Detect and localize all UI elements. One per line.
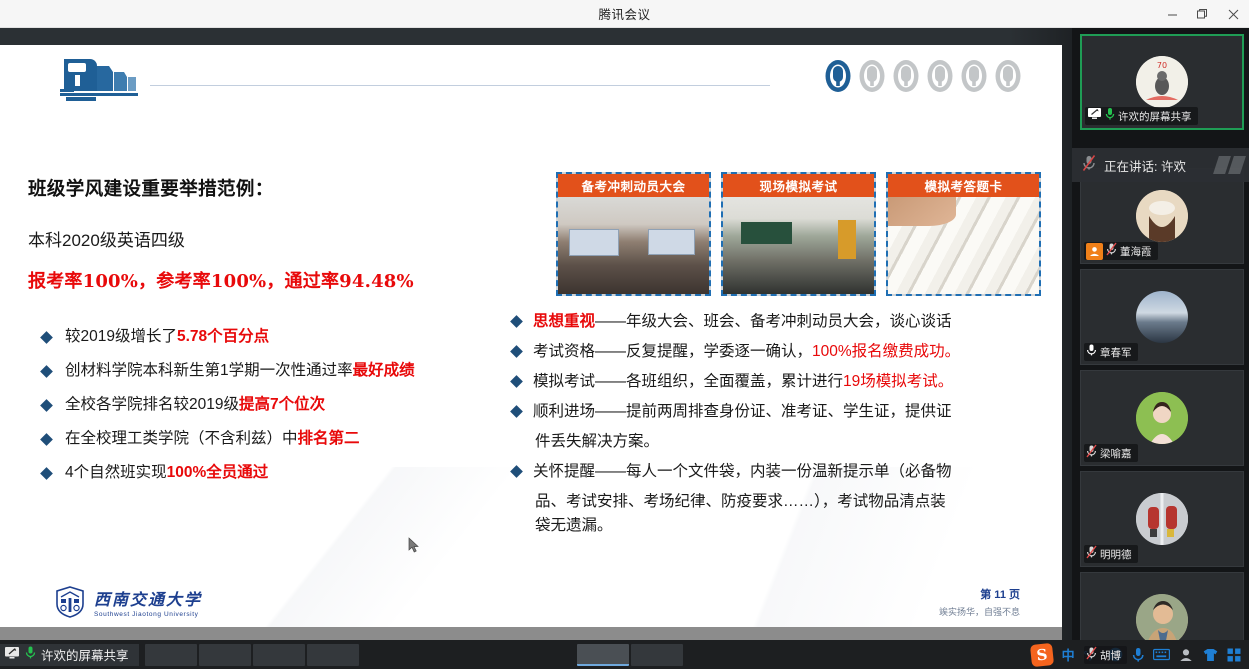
photo-gallery: 备考冲刺动员大会 现场模拟考试 模拟考答题卡 bbox=[556, 172, 1041, 296]
voice-input-icon[interactable] bbox=[1132, 647, 1144, 663]
skin-icon[interactable] bbox=[1203, 648, 1218, 662]
photo-card[interactable]: 备考冲刺动员大会 bbox=[556, 172, 711, 296]
university-name-en: Southwest Jiaotong University bbox=[94, 611, 202, 618]
mic-on-icon bbox=[25, 645, 36, 665]
participant-tile-host[interactable]: 董海霞 bbox=[1080, 168, 1244, 264]
mic-muted-icon bbox=[1106, 242, 1117, 261]
participant-name: 许欢的屏幕共享 bbox=[1118, 109, 1192, 124]
participant-sidebar[interactable]: 70 bbox=[1072, 28, 1249, 640]
taskbar-window-item[interactable] bbox=[307, 644, 359, 666]
participant-tile[interactable]: 梁喻嘉 bbox=[1080, 370, 1244, 466]
window-controls bbox=[1157, 0, 1249, 28]
bullet-text: 关怀提醒——每人一个文件袋，内装一份温新提示单（必备物 bbox=[533, 460, 952, 484]
bullet-text: 创材料学院本科新生第1学期一次性通过率最好成绩 bbox=[65, 361, 415, 382]
list-item: 考试资格——反复提醒，学委逐一确认，100%报名缴费成功。 bbox=[500, 340, 1040, 364]
mic-on-icon bbox=[1105, 107, 1115, 126]
bullet-text: 考试资格——反复提醒，学委逐一确认，100%报名缴费成功。 bbox=[533, 340, 960, 364]
bullet-text: 顺利进场——提前两周排查身份证、准考证、学生证，提供证 bbox=[533, 400, 952, 424]
taskbar-window-buttons bbox=[139, 644, 1031, 666]
list-item: 顺利进场——提前两周排查身份证、准考证、学生证，提供证 bbox=[500, 400, 1040, 424]
soft-keyboard-icon[interactable] bbox=[1153, 648, 1170, 661]
mic-muted-icon bbox=[1086, 545, 1097, 564]
bullet-text: 较2019级增长了5.78个百分点 bbox=[65, 327, 269, 348]
train-dot-icon bbox=[960, 59, 988, 93]
slide-left-column: 班级学风建设重要举措范例： 本科2020级英语四级 报考率100%，参考率100… bbox=[28, 175, 538, 497]
diamond-bullet-icon bbox=[510, 405, 523, 418]
bullet-text: 4个自然班实现100%全员通过 bbox=[65, 463, 268, 484]
university-motto: 竢实扬华，自强不息 bbox=[939, 605, 1020, 618]
ime-toolbar[interactable]: S 中 °， bbox=[1031, 644, 1249, 666]
mic-on-icon bbox=[1086, 343, 1097, 362]
avatar bbox=[1136, 291, 1188, 343]
bullet-text: 在全校理工类学院（不含利兹）中排名第二 bbox=[65, 429, 360, 450]
tencent-meeting-window: 腾讯会议 bbox=[0, 0, 1249, 669]
slide-header-decoration bbox=[0, 45, 1062, 107]
photo-caption: 模拟考答题卡 bbox=[888, 174, 1039, 197]
diamond-bullet-icon bbox=[510, 465, 523, 478]
mic-muted-icon bbox=[1086, 444, 1097, 463]
shared-screen-slide[interactable]: 班级学风建设重要举措范例： 本科2020级英语四级 报考率100%，参考率100… bbox=[0, 45, 1062, 627]
window-titlebar: 腾讯会议 bbox=[0, 0, 1249, 28]
participant-name: 明明德 bbox=[1100, 547, 1132, 562]
train-dot-icon bbox=[926, 59, 954, 93]
user-icon[interactable] bbox=[1179, 648, 1194, 662]
photo-caption: 现场模拟考试 bbox=[723, 174, 874, 197]
avatar bbox=[1136, 392, 1188, 444]
bullet-text: 模拟考试——各班组织，全面覆盖，累计进行19场模拟考试。 bbox=[533, 370, 953, 394]
speaking-banner: 正在讲话: 许欢 bbox=[1072, 148, 1249, 182]
participant-nametag: 章春军 bbox=[1084, 343, 1138, 361]
diamond-bullet-icon bbox=[40, 331, 53, 344]
toolbox-icon[interactable] bbox=[1227, 648, 1241, 662]
participant-nametag: 梁喻嘉 bbox=[1084, 444, 1138, 462]
maximize-button[interactable] bbox=[1187, 0, 1217, 28]
taskbar-window-item[interactable] bbox=[253, 644, 305, 666]
list-item: 创材料学院本科新生第1学期一次性通过率最好成绩 bbox=[28, 361, 538, 382]
list-item: 在全校理工类学院（不含利兹）中排名第二 bbox=[28, 429, 538, 450]
participant-name: 梁喻嘉 bbox=[1100, 446, 1132, 461]
participant-tile[interactable]: 明明德 bbox=[1080, 471, 1244, 567]
sogou-logo-icon[interactable]: S bbox=[1029, 642, 1053, 666]
windows-taskbar: 许欢的屏幕共享 S 中 °， bbox=[0, 640, 1249, 669]
slide-subtitle: 本科2020级英语四级 bbox=[28, 226, 538, 251]
host-badge-icon bbox=[1086, 243, 1103, 260]
list-item: 4个自然班实现100%全员通过 bbox=[28, 463, 538, 484]
avatar bbox=[1136, 594, 1188, 646]
slide-bottom-band bbox=[0, 627, 1062, 640]
university-name-block: 西南交通大学 Southwest Jiaotong University bbox=[94, 586, 202, 618]
page-title: 腾讯会议 bbox=[598, 4, 650, 23]
speaking-label: 正在讲话: 许欢 bbox=[1104, 156, 1186, 175]
svg-text:70: 70 bbox=[1157, 61, 1167, 70]
participant-nametag: 明明德 bbox=[1084, 545, 1138, 563]
page-number: 第 11 页 bbox=[939, 586, 1020, 602]
participant-nametag: 许欢的屏幕共享 bbox=[1085, 107, 1198, 125]
close-button[interactable] bbox=[1217, 0, 1249, 28]
list-item: 全校各学院排名较2019级提高7个位次 bbox=[28, 395, 538, 416]
participant-name: 董海霞 bbox=[1120, 244, 1152, 259]
banner-decoration bbox=[1216, 156, 1243, 174]
header-rule bbox=[150, 85, 770, 86]
list-item: 关怀提醒——每人一个文件袋，内装一份温新提示单（必备物 bbox=[500, 460, 1040, 484]
taskbar-share-label: 许欢的屏幕共享 bbox=[41, 645, 129, 664]
avatar: 70 bbox=[1136, 56, 1188, 108]
list-item: 较2019级增长了5.78个百分点 bbox=[28, 327, 538, 348]
diamond-bullet-icon bbox=[40, 467, 53, 480]
university-logo: 西南交通大学 Southwest Jiaotong University bbox=[55, 586, 202, 618]
train-dot-icon bbox=[892, 59, 920, 93]
photo-caption: 备考冲刺动员大会 bbox=[558, 174, 709, 197]
train-dot-icon bbox=[994, 59, 1022, 93]
bullet-continuation-text: 袋无遗漏。 bbox=[535, 514, 1040, 538]
photo-card[interactable]: 模拟考答题卡 bbox=[886, 172, 1041, 296]
photo-card[interactable]: 现场模拟考试 bbox=[721, 172, 876, 296]
taskbar-share-indicator[interactable]: 许欢的屏幕共享 bbox=[0, 644, 139, 666]
bullet-text: 思想重视——年级大会、班会、备考冲刺动员大会，谈心谈话 bbox=[533, 310, 952, 334]
list-item: 思想重视——年级大会、班会、备考冲刺动员大会，谈心谈话 bbox=[500, 310, 1040, 334]
slide-progress-dots bbox=[824, 59, 1022, 93]
taskbar-window-item[interactable] bbox=[199, 644, 251, 666]
answer-sheets-photo bbox=[888, 197, 1039, 294]
mouse-cursor bbox=[408, 537, 420, 559]
lecture-hall-photo bbox=[558, 197, 709, 294]
train-dot-icon bbox=[858, 59, 886, 93]
participant-nametag: 董海霞 bbox=[1084, 242, 1158, 260]
slide-page-footer: 第 11 页 竢实扬华，自强不息 bbox=[939, 586, 1020, 618]
slide-right-column: 思想重视——年级大会、班会、备考冲刺动员大会，谈心谈话 考试资格——反复提醒，学… bbox=[500, 310, 1040, 538]
left-bullet-list: 较2019级增长了5.78个百分点 创材料学院本科新生第1学期一次性通过率最好成… bbox=[28, 327, 538, 484]
chinese-mode-icon[interactable]: 中 bbox=[1062, 645, 1075, 664]
diamond-bullet-icon bbox=[510, 345, 523, 358]
minimize-button[interactable] bbox=[1157, 0, 1187, 28]
classroom-exam-photo bbox=[723, 197, 874, 294]
diamond-bullet-icon bbox=[510, 315, 523, 328]
slide-highlight-stats: 报考率100%，参考率100%，通过率94.48% bbox=[28, 267, 538, 293]
avatar bbox=[1136, 190, 1188, 242]
participant-tile-screen-share[interactable]: 70 bbox=[1080, 34, 1244, 130]
university-name-cn: 西南交通大学 bbox=[94, 586, 202, 610]
bullet-continuation-text: 品、考试安排、考场纪律、防疫要求……），考试物品清点装 bbox=[535, 490, 1040, 514]
taskbar-window-item[interactable] bbox=[631, 644, 683, 666]
diamond-bullet-icon bbox=[40, 365, 53, 378]
taskbar-window-item[interactable] bbox=[145, 644, 197, 666]
participant-name: 胡博 bbox=[1100, 648, 1121, 663]
taskbar-window-item-active[interactable] bbox=[577, 644, 629, 666]
diamond-bullet-icon bbox=[40, 433, 53, 446]
slide-section-title: 班级学风建设重要举措范例： bbox=[28, 175, 538, 201]
participant-name: 章春军 bbox=[1100, 345, 1132, 360]
diamond-bullet-icon bbox=[510, 375, 523, 388]
diamond-bullet-icon bbox=[40, 399, 53, 412]
bullet-text: 全校各学院排名较2019级提高7个位次 bbox=[65, 395, 325, 416]
screen-share-icon bbox=[1087, 107, 1102, 125]
list-item: 模拟考试——各班组织，全面覆盖，累计进行19场模拟考试。 bbox=[500, 370, 1040, 394]
train-icon bbox=[58, 53, 150, 110]
avatar bbox=[1136, 493, 1188, 545]
mic-muted-icon bbox=[1082, 154, 1096, 177]
participant-nametag: 胡博 bbox=[1084, 646, 1127, 664]
bullet-continuation-text: 件丢失解决方案。 bbox=[535, 430, 1040, 454]
screen-share-icon bbox=[4, 646, 20, 664]
train-dot-icon-active bbox=[824, 59, 852, 93]
university-crest-icon bbox=[55, 586, 85, 618]
participant-tile[interactable]: 章春军 bbox=[1080, 269, 1244, 365]
mic-muted-icon bbox=[1086, 646, 1097, 665]
